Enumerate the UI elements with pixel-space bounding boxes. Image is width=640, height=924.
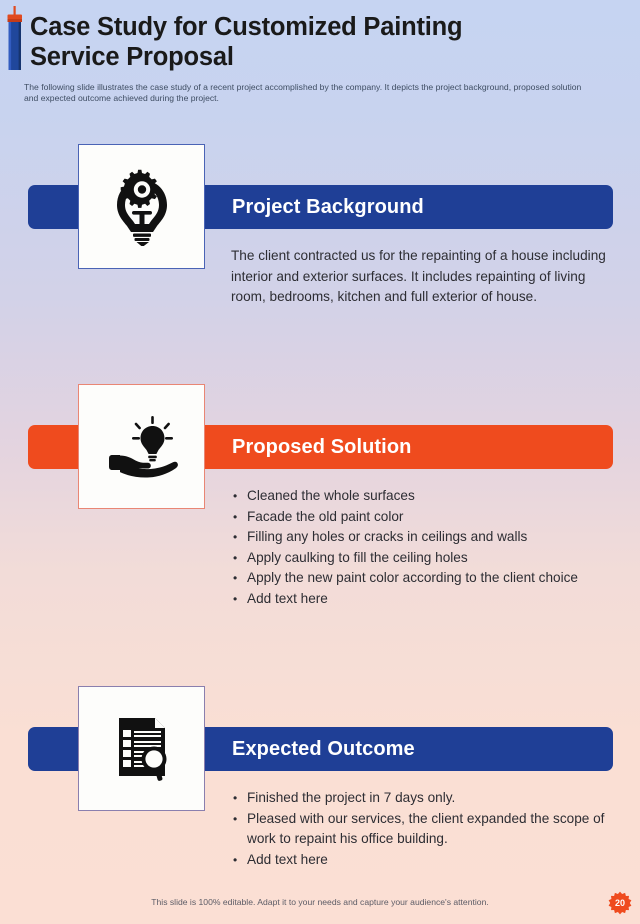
page-subtitle: The following slide illustrates the case…: [24, 82, 584, 105]
section-body-paragraph: The client contracted us for the repaint…: [231, 246, 611, 308]
list-item: Add text here: [231, 850, 611, 871]
list-item: Apply caulking to fill the ceiling holes: [231, 548, 611, 569]
paint-roller-icon: [5, 6, 25, 72]
list-item: Facade the old paint color: [231, 507, 611, 528]
section-body-bullets: Finished the project in 7 days only. Ple…: [231, 788, 611, 870]
page-title-line2: Service Proposal: [30, 43, 234, 71]
list-item: Finished the project in 7 days only.: [231, 788, 611, 809]
section-body-bullets: Cleaned the whole surfaces Facade the ol…: [231, 486, 611, 609]
page-title-line1: Case Study for Customized Painting: [30, 13, 462, 41]
page-number-label: 20: [608, 891, 632, 915]
lightbulb-gear-icon: [109, 168, 175, 246]
slide-header: Case Study for Customized Painting Servi…: [0, 0, 640, 118]
list-item: Cleaned the whole surfaces: [231, 486, 611, 507]
list-item: Pleased with our services, the client ex…: [231, 809, 611, 850]
section-icon-card: [78, 144, 205, 269]
section-title-label: Proposed Solution: [232, 425, 411, 469]
bullet-list: Finished the project in 7 days only. Ple…: [231, 788, 611, 870]
slide-canvas: Case Study for Customized Painting Servi…: [0, 0, 640, 924]
list-item: Add text here: [231, 589, 611, 610]
section-title-label: Expected Outcome: [232, 727, 415, 771]
section-icon-card: [78, 384, 205, 509]
page-number-badge: 20: [608, 891, 632, 915]
hand-holding-lightbulb-icon: [103, 414, 181, 480]
bullet-list: Cleaned the whole surfaces Facade the ol…: [231, 486, 611, 609]
list-item: Apply the new paint color according to t…: [231, 568, 611, 589]
document-magnifier-icon: [109, 714, 175, 784]
list-item: Filling any holes or cracks in ceilings …: [231, 527, 611, 548]
section-title-label: Project Background: [232, 185, 424, 229]
section-icon-card: [78, 686, 205, 811]
page-title: Case Study for Customized Painting Servi…: [30, 12, 620, 72]
footer-note: This slide is 100% editable. Adapt it to…: [0, 897, 640, 907]
